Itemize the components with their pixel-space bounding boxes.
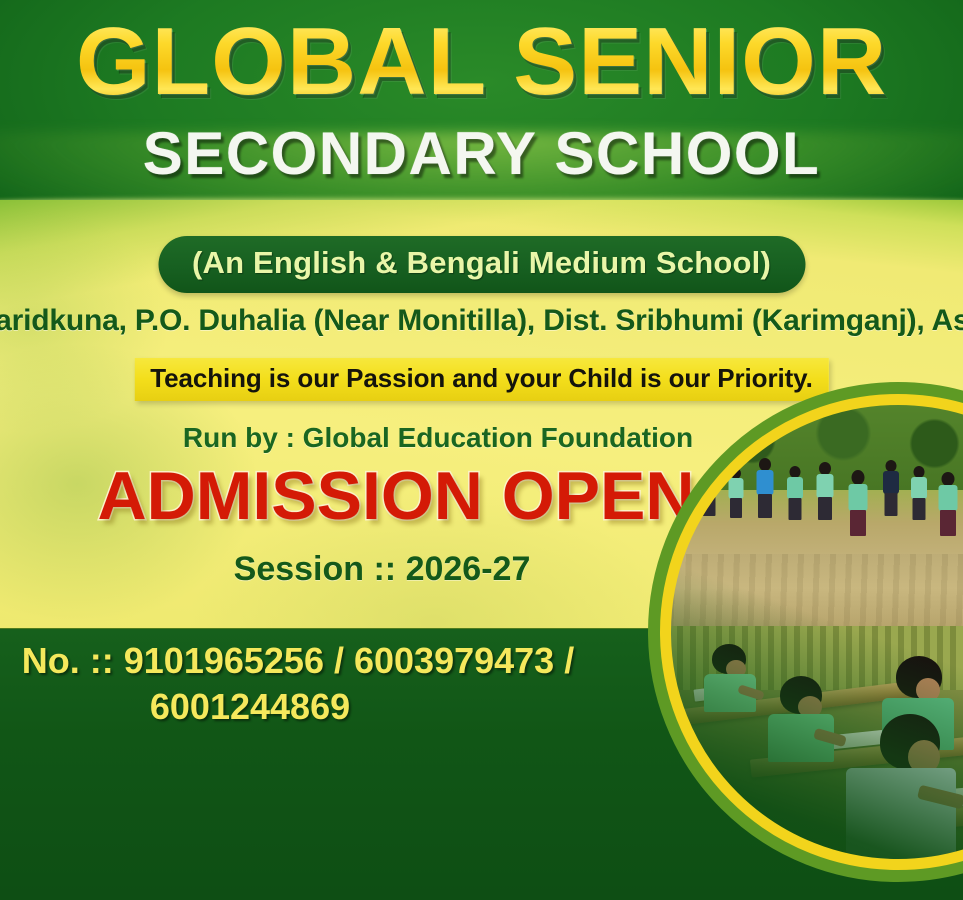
tagline-band: Teaching is our Passion and your Child i… bbox=[134, 358, 828, 401]
student-writing bbox=[700, 644, 762, 714]
school-title-main: GLOBAL SENIOR bbox=[76, 14, 887, 110]
school-address: Faridkuna, P.O. Duhalia (Near Monitilla)… bbox=[0, 304, 963, 338]
medium-badge: (An English & Bengali Medium School) bbox=[158, 236, 805, 293]
student-writing-foreground bbox=[846, 714, 963, 860]
assembly-photo bbox=[670, 404, 963, 626]
student-figure bbox=[700, 460, 717, 516]
student-figure bbox=[910, 466, 927, 520]
admission-open-headline: ADMISSION OPEN bbox=[98, 462, 695, 530]
student-figure bbox=[938, 472, 958, 536]
student-figure bbox=[848, 470, 868, 536]
photo-collage bbox=[670, 404, 963, 860]
school-title-sub: SECONDARY SCHOOL bbox=[143, 124, 820, 184]
student-figure bbox=[674, 464, 690, 516]
banner-header: GLOBAL SENIOR SECONDARY SCHOOL bbox=[0, 0, 963, 228]
student-writing bbox=[766, 676, 844, 762]
student-figure bbox=[786, 466, 803, 520]
session-line: Session :: 2026-27 bbox=[234, 550, 531, 589]
student-figure bbox=[756, 458, 774, 518]
student-figure bbox=[728, 468, 744, 518]
school-admission-banner: GLOBAL SENIOR SECONDARY SCHOOL (An Engli… bbox=[0, 0, 963, 900]
run-by-line: Run by : Global Education Foundation bbox=[183, 422, 693, 454]
student-figure bbox=[816, 462, 834, 520]
tagline-text: Teaching is our Passion and your Child i… bbox=[150, 363, 812, 394]
ground-strip bbox=[670, 554, 963, 626]
contact-number-line-2: 6001244869 bbox=[150, 686, 350, 728]
contact-number-line-1: No. :: 9101965256 / 6003979473 / bbox=[22, 640, 574, 682]
medium-badge-label: (An English & Bengali Medium School) bbox=[192, 245, 771, 281]
student-figure bbox=[882, 460, 899, 516]
classroom-photo bbox=[670, 626, 963, 860]
